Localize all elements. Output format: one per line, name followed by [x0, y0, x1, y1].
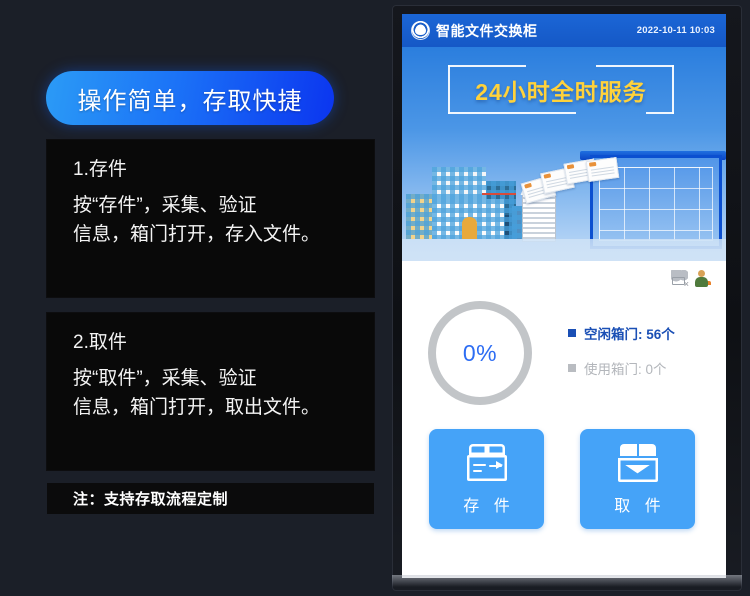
left-info-column: 操作简单，存取快捷 1.存件 按“存件”，采集、验证 信息，箱门打开，存入文件。…	[0, 0, 392, 596]
title-pill-text: 操作简单，存取快捷	[78, 81, 303, 116]
locker-legend: 空闲箱门: 56个 使用箱门: 0个	[568, 323, 675, 393]
legend-row-free: 空闲箱门: 56个	[568, 323, 675, 343]
kiosk-screen: 智能文件交换柜 2022-10-11 10:03 24小时全时服务	[402, 14, 726, 578]
kiosk-device-frame: 智能文件交换柜 2022-10-11 10:03 24小时全时服务	[392, 5, 742, 591]
building-hall	[432, 199, 504, 239]
network-disconnected-icon[interactable]	[671, 270, 688, 287]
poster-canvas: 操作简单，存取快捷 1.存件 按“存件”，采集、验证 信息，箱门打开，存入文件。…	[0, 0, 750, 596]
note-text: 注：支持存取流程定制	[47, 488, 228, 509]
building-door	[462, 217, 477, 239]
emblem-badge-icon	[411, 21, 430, 40]
accent-line	[482, 193, 516, 195]
box-arrow-in-icon	[463, 443, 511, 483]
banner-bracket-frame: 24小时全时服务	[448, 65, 674, 114]
step-1-line-1: 按“存件”，采集、验证	[73, 192, 374, 221]
step-card-pickup: 2.取件 按“取件”，采集、验证 信息，箱门打开，取出文件。	[47, 313, 374, 470]
legend-row-used: 使用箱门: 0个	[568, 358, 675, 378]
datetime-display: 2022-10-11 10:03	[637, 25, 715, 36]
legend-label-used: 使用箱门: 0个	[584, 358, 667, 378]
step-1-heading: 1.存件	[73, 160, 374, 181]
gauge-value: 0%	[463, 340, 497, 367]
ground-strip	[402, 239, 726, 261]
gauge-ring: 0%	[428, 301, 532, 405]
usage-gauge: 0%	[428, 301, 532, 405]
deposit-button[interactable]: 存 件	[429, 429, 544, 529]
box-open-envelope-icon	[614, 443, 662, 483]
promo-banner: 24小时全时服务	[402, 47, 726, 261]
legend-swatch-free	[568, 329, 576, 337]
envelope-icon	[586, 157, 620, 182]
screen-header: 智能文件交换柜 2022-10-11 10:03	[402, 14, 726, 47]
device-base-reflection	[392, 575, 742, 591]
status-icon-tray	[671, 270, 712, 287]
step-2-heading: 2.取件	[73, 333, 374, 354]
step-1-line-2: 信息，箱门打开，存入文件。	[73, 221, 374, 250]
step-2-line-2: 信息，箱门打开，取出文件。	[73, 394, 374, 423]
title-pill: 操作简单，存取快捷	[46, 71, 334, 125]
screen-title: 智能文件交换柜	[436, 21, 538, 41]
legend-swatch-used	[568, 364, 576, 372]
legend-label-free: 空闲箱门: 56个	[584, 323, 675, 343]
city-illustration	[402, 129, 726, 261]
user-key-icon[interactable]	[695, 270, 712, 287]
step-card-deposit: 1.存件 按“存件”，采集、验证 信息，箱门打开，存入文件。	[47, 140, 374, 297]
step-2-line-1: 按“取件”，采集、验证	[73, 365, 374, 394]
deposit-button-label: 存 件	[458, 492, 514, 516]
pickup-button[interactable]: 取 件	[580, 429, 695, 529]
banner-headline: 24小时全时服务	[448, 65, 674, 114]
pickup-button-label: 取 件	[609, 492, 665, 516]
action-button-row: 存 件 取 件	[402, 421, 726, 578]
note-bar: 注：支持存取流程定制	[47, 483, 374, 514]
stats-section: 0% 空闲箱门: 56个 使用箱门: 0个	[402, 261, 726, 421]
